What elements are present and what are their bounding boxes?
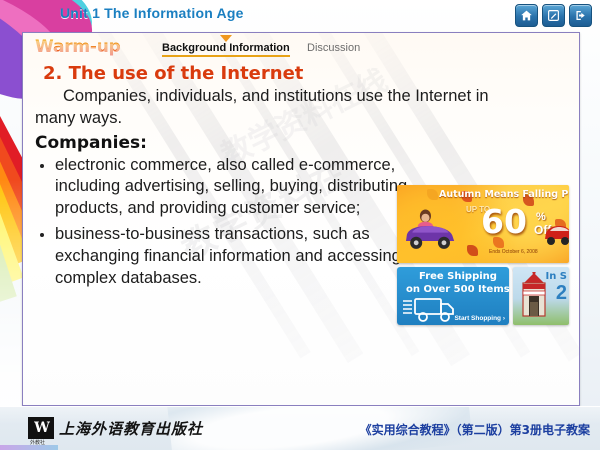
exit-icon[interactable]: [569, 4, 592, 27]
tab-background-information[interactable]: Background Information: [162, 42, 290, 57]
ad-shipping-line1: Free Shipping: [419, 271, 497, 282]
home-icon[interactable]: [515, 4, 538, 27]
intro-paragraph: Companies, individuals, and institutions…: [35, 86, 505, 130]
ad-partial-line1: In S: [545, 271, 567, 282]
red-toy-car-illustration: [545, 217, 569, 247]
book-title: 《实用综合教程》（第二版）第3册电子教案: [360, 421, 590, 438]
publisher-name: 上海外语教育出版社: [59, 418, 203, 439]
active-tab-marker: [220, 35, 232, 42]
ad-shipping-line2: on Over 500 Items: [406, 284, 509, 295]
slide-footer: W 上海外语教育出版社 外教社 《实用综合教程》（第二版）第3册电子教案: [0, 406, 600, 450]
ad-banner-free-shipping: Free Shipping on Over 500 Items Start Sh…: [397, 267, 509, 325]
publisher-block: W 上海外语教育出版社: [28, 417, 203, 439]
delivery-truck-icon: [403, 297, 461, 323]
ad-banner-partial: In S 2: [513, 267, 569, 325]
ad-shipping-cta[interactable]: Start Shopping ›: [454, 315, 505, 322]
advertisement-group: Autumn Means Falling Prices! UP TO 60 % …: [397, 185, 569, 325]
tab-bar: Warm-up Background Information Discussio…: [23, 35, 579, 61]
slide-root: Unit 1 The Information Age: [0, 0, 600, 450]
slide-header: Unit 1 The Information Age: [0, 0, 600, 30]
toy-car-illustration: [403, 203, 459, 253]
companies-lead: Companies:: [35, 133, 569, 153]
ad-autumn-headline: Autumn Means Falling Prices!: [439, 189, 569, 200]
tab-discussion[interactable]: Discussion: [307, 42, 360, 54]
header-icon-group: [515, 4, 592, 27]
section-label-warmup: Warm-up: [35, 37, 121, 57]
content-panel: 教学资料在线 教学资料在 Warm-up Background Informat…: [22, 32, 580, 406]
ad-autumn-discount: 60: [481, 205, 527, 238]
page-title: Unit 1 The Information Age: [60, 5, 244, 21]
ad-autumn-fineprint: Ends October 6, 2008: [489, 249, 538, 255]
publisher-logo: W: [28, 417, 54, 439]
edit-icon[interactable]: [542, 4, 565, 27]
ad-banner-autumn: Autumn Means Falling Prices! UP TO 60 % …: [397, 185, 569, 263]
section-title: 2. The use of the Internet: [43, 63, 569, 84]
ad-partial-line2: 2: [556, 283, 567, 303]
footer-color-strip: [0, 445, 58, 450]
list-item: electronic commerce, also called e-comme…: [35, 155, 410, 221]
list-item: business-to-business transactions, such …: [35, 224, 410, 290]
